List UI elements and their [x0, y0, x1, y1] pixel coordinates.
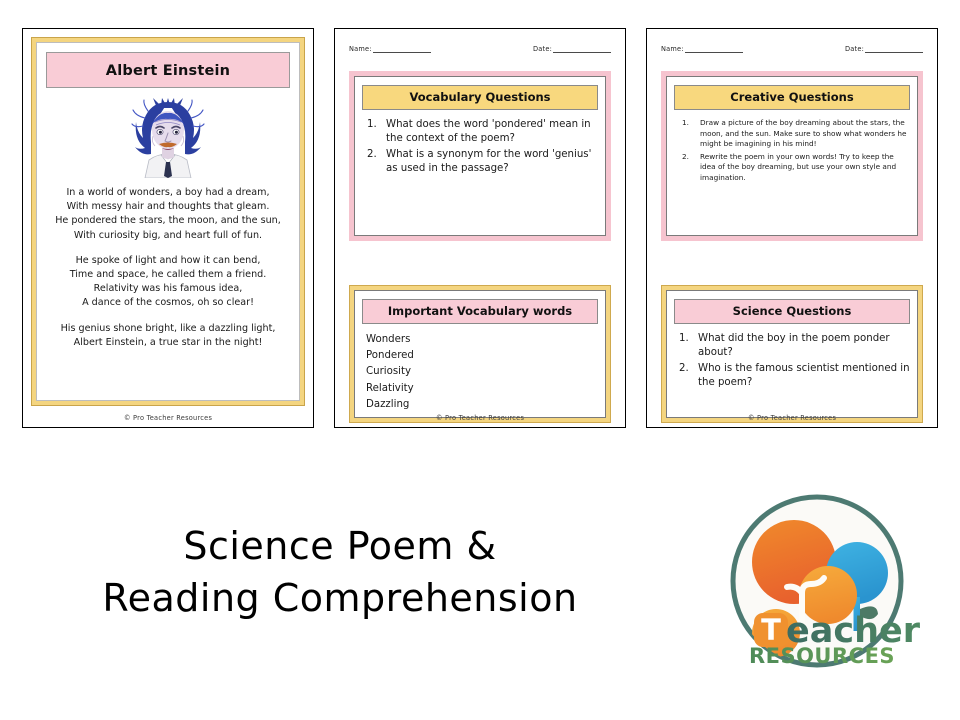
- date-input-rule[interactable]: [553, 46, 611, 53]
- poem-line: He pondered the stars, the moon, and the…: [50, 214, 286, 228]
- einstein-portrait-image: [46, 98, 290, 178]
- vocabulary-questions-list: What does the word 'pondered' mean in th…: [362, 118, 598, 177]
- worksheet-page-1[interactable]: Albert Einstein: [22, 28, 314, 428]
- box-inner: Vocabulary Questions What does the word …: [354, 76, 606, 236]
- science-questions-heading: Science Questions: [674, 299, 910, 324]
- logo-t-letter: T: [761, 613, 781, 647]
- science-questions-box: Science Questions What did the boy in th…: [661, 285, 923, 423]
- poem-line: With curiosity big, and heart full of fu…: [50, 229, 286, 243]
- vocabulary-word-list: Wonders Pondered Curiosity Relativity Da…: [362, 332, 598, 413]
- poem-line: His genius shone bright, like a dazzling…: [50, 322, 286, 336]
- poem-line: He spoke of light and how it can bend,: [50, 254, 286, 268]
- box-inner: Science Questions What did the boy in th…: [666, 290, 918, 418]
- logo-word-resources: RESOURCES: [749, 644, 895, 668]
- name-input-rule[interactable]: [373, 46, 431, 53]
- science-questions-list: What did the boy in the poem ponder abou…: [674, 332, 910, 391]
- box-outer-border: Vocabulary Questions What does the word …: [349, 71, 611, 241]
- banner-title-line-2: Reading Comprehension: [40, 572, 640, 624]
- important-vocabulary-box: Important Vocabulary words Wonders Ponde…: [349, 285, 611, 423]
- word-item: Dazzling: [366, 397, 598, 413]
- question-item: Draw a picture of the boy dreaming about…: [674, 118, 910, 150]
- worksheet-page-3[interactable]: Name: Date: Creative Questions Draw a pi…: [646, 28, 938, 428]
- worksheet-preview-row: Albert Einstein: [0, 0, 960, 460]
- slide-root: Albert Einstein: [0, 0, 960, 720]
- poem-stanza: His genius shone bright, like a dazzling…: [50, 322, 286, 350]
- date-field[interactable]: Date:: [845, 45, 923, 53]
- page1-gold-frame: Albert Einstein: [32, 38, 304, 405]
- box-outer-border: Creative Questions Draw a picture of the…: [661, 71, 923, 241]
- question-item: What did the boy in the poem ponder abou…: [674, 332, 910, 361]
- question-item: Rewrite the poem in your own words! Try …: [674, 152, 910, 184]
- pro-teacher-resources-logo: T eacher RESOURCES: [714, 492, 920, 674]
- name-label: Name:: [661, 45, 684, 53]
- box-outer-border: Science Questions What did the boy in th…: [661, 285, 923, 423]
- word-item: Relativity: [366, 381, 598, 397]
- poem-line: With messy hair and thoughts that gleam.: [50, 200, 286, 214]
- creative-questions-heading: Creative Questions: [674, 85, 910, 110]
- page1-footer-copyright: © Pro Teacher Resources: [23, 414, 313, 422]
- box-inner: Creative Questions Draw a picture of the…: [666, 76, 918, 236]
- name-input-rule[interactable]: [685, 46, 743, 53]
- name-field[interactable]: Name:: [349, 45, 431, 53]
- banner-title-line-1: Science Poem &: [40, 520, 640, 572]
- worksheet-page-2[interactable]: Name: Date: Vocabulary Questions What do…: [334, 28, 626, 428]
- word-item: Pondered: [366, 348, 598, 364]
- word-item: Curiosity: [366, 364, 598, 380]
- creative-questions-box: Creative Questions Draw a picture of the…: [661, 71, 923, 241]
- date-input-rule[interactable]: [865, 46, 923, 53]
- box-inner: Important Vocabulary words Wonders Ponde…: [354, 290, 606, 418]
- page-title: Albert Einstein: [106, 63, 230, 79]
- poem-line: A dance of the cosmos, oh so clear!: [50, 296, 286, 310]
- page1-frame-inner: Albert Einstein: [36, 42, 300, 401]
- date-field[interactable]: Date:: [533, 45, 611, 53]
- question-item: Who is the famous scientist mentioned in…: [674, 362, 910, 391]
- poem-stanza: In a world of wonders, a boy had a dream…: [50, 186, 286, 243]
- word-item: Wonders: [366, 332, 598, 348]
- poem-line: Time and space, he called them a friend.: [50, 268, 286, 282]
- creative-questions-list: Draw a picture of the boy dreaming about…: [674, 118, 910, 184]
- einstein-portrait-icon: [131, 98, 205, 178]
- page3-name-date-row: Name: Date:: [661, 45, 923, 53]
- page1-title-banner: Albert Einstein: [46, 52, 290, 88]
- banner-title: Science Poem & Reading Comprehension: [40, 520, 640, 624]
- poem-body: In a world of wonders, a boy had a dream…: [46, 186, 290, 350]
- name-field[interactable]: Name:: [661, 45, 743, 53]
- poem-line: In a world of wonders, a boy had a dream…: [50, 186, 286, 200]
- vocabulary-questions-box: Vocabulary Questions What does the word …: [349, 71, 611, 241]
- name-label: Name:: [349, 45, 372, 53]
- logo-badge-icon: T eacher RESOURCES: [714, 492, 920, 674]
- question-item: What does the word 'pondered' mean in th…: [362, 118, 598, 147]
- poem-stanza: He spoke of light and how it can bend, T…: [50, 254, 286, 311]
- date-label: Date:: [845, 45, 864, 53]
- question-item: What is a synonym for the word 'genius' …: [362, 148, 598, 177]
- date-label: Date:: [533, 45, 552, 53]
- page3-footer-copyright: © Pro Teacher Resources: [647, 414, 937, 422]
- poem-line: Albert Einstein, a true star in the nigh…: [50, 336, 286, 350]
- page2-footer-copyright: © Pro Teacher Resources: [335, 414, 625, 422]
- page2-name-date-row: Name: Date:: [349, 45, 611, 53]
- box-outer-border: Important Vocabulary words Wonders Ponde…: [349, 285, 611, 423]
- vocabulary-questions-heading: Vocabulary Questions: [362, 85, 598, 110]
- important-vocabulary-heading: Important Vocabulary words: [362, 299, 598, 324]
- poem-line: Relativity was his famous idea,: [50, 282, 286, 296]
